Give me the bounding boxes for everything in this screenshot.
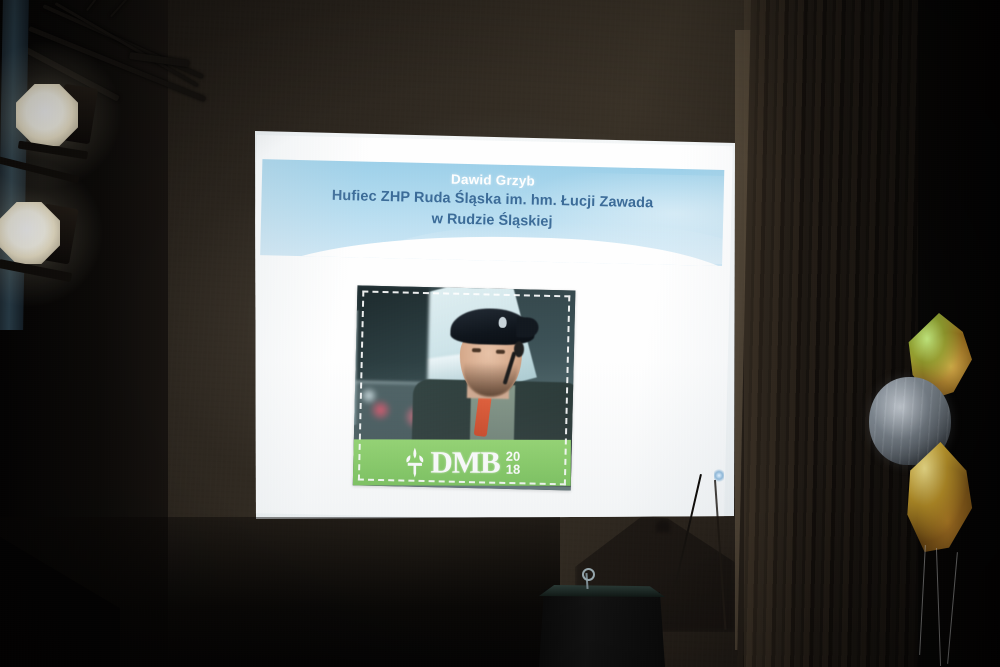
subject-eye-right	[496, 350, 505, 354]
lectern-top	[539, 585, 665, 597]
beret-badge-icon	[499, 317, 507, 328]
banner-year-bottom: 18	[506, 463, 521, 476]
scout-fleur-de-lis-icon	[403, 447, 425, 477]
photo-green-banner: DMB 20 18	[353, 439, 571, 486]
podium-shadow-mic	[656, 520, 670, 532]
truss-brace-1	[86, 0, 106, 11]
truss-brace-2	[110, 0, 134, 17]
photo-dark-area	[355, 285, 429, 383]
slide-photo: DMB 20 18	[353, 285, 576, 490]
lectern-mic-icon	[582, 568, 595, 581]
projection-screen: Dawid Grzyb Hufiec ZHP Ruda Śląska im. h…	[253, 121, 737, 521]
curtain-shading	[744, 0, 924, 667]
subject-beret-drape	[516, 317, 538, 338]
lectern	[539, 589, 665, 667]
banner-dmb-text: DMB	[430, 448, 499, 478]
projection-room-scene: Dawid Grzyb Hufiec ZHP Ruda Śląska im. h…	[0, 0, 1000, 667]
presentation-slide: Dawid Grzyb Hufiec ZHP Ruda Śląska im. h…	[248, 135, 733, 524]
stage-light-upper-lens	[16, 84, 78, 146]
subject-eye-left	[472, 348, 481, 352]
banner-year: 20 18	[506, 451, 521, 476]
slide-header-band: Dawid Grzyb Hufiec ZHP Ruda Śląska im. h…	[260, 159, 724, 266]
